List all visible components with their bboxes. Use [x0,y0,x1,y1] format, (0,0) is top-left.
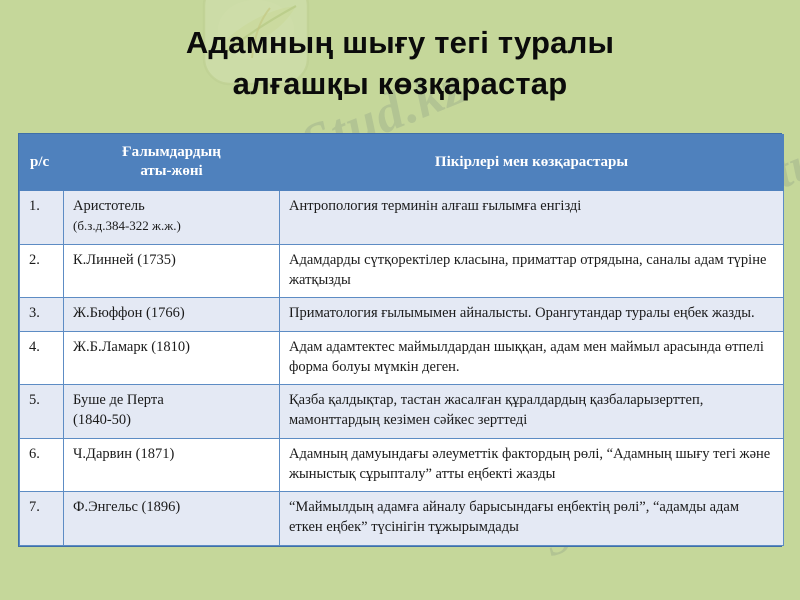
row-number: 3. [20,298,64,332]
scientist-name-line-1: Буше де Перта [73,392,164,408]
row-scientist-name: Аристотель (б.з.д.384-322 ж.ж.) [64,191,280,244]
table-row: 6. Ч.Дарвин (1871) Адамның дамуындағы әл… [20,438,784,491]
table-row: 7. Ф.Энгельс (1896) “Маймылдың адамға ай… [20,492,784,545]
table-row: 2. К.Линней (1735) Адамдарды сүтқоректіл… [20,244,784,297]
column-header-views: Пікірлері мен көзқарастары [280,135,784,191]
row-scientist-name: Буше де Перта (1840-50) [64,385,280,438]
scientist-name-line-1: Аристотель [73,198,145,214]
column-header-number: р/с [20,135,64,191]
row-description: Антропология терминін алғаш ғылымға енгі… [280,191,784,244]
row-description: Адамның дамуындағы әлеуметтік фактордың … [280,438,784,491]
row-number: 6. [20,438,64,491]
table-body: 1. Аристотель (б.з.д.384-322 ж.ж.) Антро… [20,191,784,545]
row-description: Приматология ғылымымен айналысты. Орангу… [280,298,784,332]
row-number: 7. [20,492,64,545]
row-number: 1. [20,191,64,244]
table-row: 5. Буше де Перта (1840-50) Қазба қалдықт… [20,385,784,438]
table-header-row: р/с Ғалымдардың аты-жөні Пікірлері мен к… [20,135,784,191]
row-number: 2. [20,244,64,297]
row-scientist-name: Ж.Б.Ламарк (1810) [64,331,280,384]
table-row: 1. Аристотель (б.з.д.384-322 ж.ж.) Антро… [20,191,784,244]
row-description: “Маймылдың адамға айналу барысындағы еңб… [280,492,784,545]
row-description: Қазба қалдықтар, тастан жасалған құралда… [280,385,784,438]
page-title-line-2: алғашқы көзқарастар [0,63,800,104]
table-header: р/с Ғалымдардың аты-жөні Пікірлері мен к… [20,135,784,191]
scientists-table: р/с Ғалымдардың аты-жөні Пікірлері мен к… [19,134,784,546]
row-description: Адам адамтектес маймылдардан шыққан, ада… [280,331,784,384]
scientists-table-container: р/с Ғалымдардың аты-жөні Пікірлері мен к… [18,133,782,547]
row-scientist-name: Ч.Дарвин (1871) [64,438,280,491]
table-row: 4. Ж.Б.Ламарк (1810) Адам адамтектес май… [20,331,784,384]
page-title-line-1: Адамның шығу тегі туралы [0,22,800,63]
column-header-name-line-1: Ғалымдардың [122,144,221,160]
page-title: Адамның шығу тегі туралы алғашқы көзқара… [0,22,800,104]
row-description: Адамдарды сүтқоректілер класына, приматт… [280,244,784,297]
row-number: 5. [20,385,64,438]
scientist-name-line-2: (б.з.д.384-322 ж.ж.) [73,218,181,233]
row-scientist-name: К.Линней (1735) [64,244,280,297]
row-scientist-name: Ф.Энгельс (1896) [64,492,280,545]
table-row: 3. Ж.Бюффон (1766) Приматология ғылымыме… [20,298,784,332]
column-header-name: Ғалымдардың аты-жөні [64,135,280,191]
row-number: 4. [20,331,64,384]
column-header-name-line-2: аты-жөні [140,163,202,179]
scientist-name-line-2: (1840-50) [73,412,131,428]
row-scientist-name: Ж.Бюффон (1766) [64,298,280,332]
